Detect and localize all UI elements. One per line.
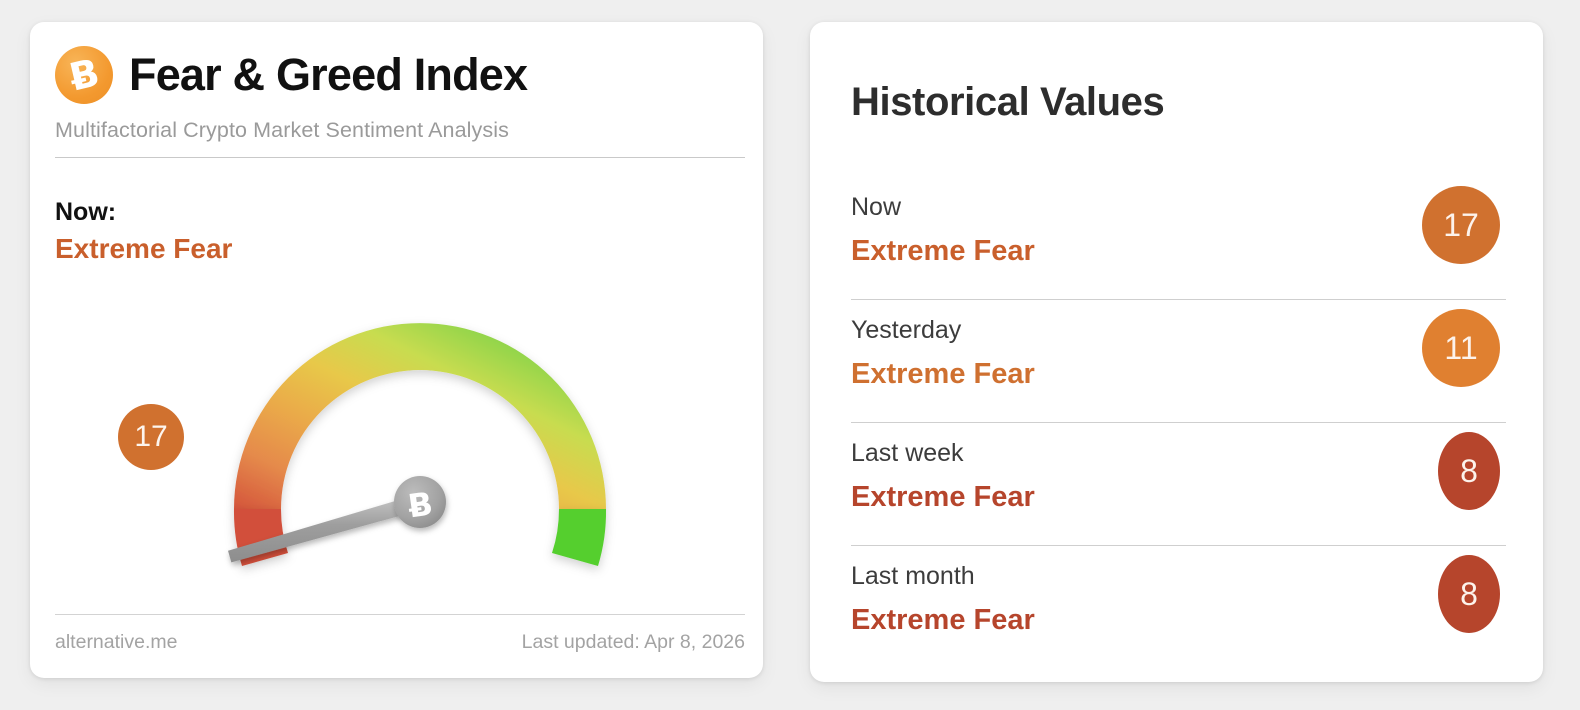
now-label: Now:	[55, 198, 232, 227]
history-period-label: Last week	[851, 439, 964, 468]
history-score-badge: 11	[1422, 309, 1500, 387]
header-divider	[55, 157, 745, 158]
history-row: Last monthExtreme Fear8	[851, 546, 1506, 669]
page-subtitle: Multifactorial Crypto Market Sentiment A…	[55, 118, 745, 143]
page-root: Ƀ Fear & Greed Index Multifactorial Cryp…	[0, 0, 1580, 710]
history-score-badge: 17	[1422, 186, 1500, 264]
gauge-card-header: Ƀ Fear & Greed Index Multifactorial Cryp…	[55, 44, 745, 158]
history-classification: Extreme Fear	[851, 235, 1035, 268]
gauge-arc	[230, 323, 606, 597]
footer-divider	[55, 614, 745, 615]
history-score-badge: 8	[1438, 432, 1500, 510]
history-classification: Extreme Fear	[851, 481, 1035, 514]
bitcoin-hub-icon: Ƀ	[406, 484, 435, 525]
source-link[interactable]: alternative.me	[55, 631, 177, 654]
bitcoin-icon: Ƀ	[55, 46, 113, 104]
last-updated-text: Last updated: Apr 8, 2026	[522, 631, 745, 654]
history-period-label: Last month	[851, 562, 975, 591]
historical-values-card: Historical Values NowExtreme Fear17Yeste…	[810, 22, 1543, 682]
historical-values-list: NowExtreme Fear17YesterdayExtreme Fear11…	[851, 177, 1506, 669]
history-period-label: Yesterday	[851, 316, 961, 345]
bitcoin-glyph: Ƀ	[66, 53, 103, 97]
now-block: Now: Extreme Fear	[55, 198, 232, 265]
history-classification: Extreme Fear	[851, 604, 1035, 637]
fear-greed-gauge-card: Ƀ Fear & Greed Index Multifactorial Cryp…	[30, 22, 763, 678]
history-period-label: Now	[851, 193, 901, 222]
now-classification: Extreme Fear	[55, 233, 232, 265]
history-row: YesterdayExtreme Fear11	[851, 300, 1506, 423]
history-row: NowExtreme Fear17	[851, 177, 1506, 300]
gauge-card-footer: alternative.me Last updated: Apr 8, 2026	[55, 614, 745, 654]
gauge-hub: Ƀ	[394, 476, 446, 528]
gauge-score-badge: 17	[118, 404, 184, 470]
historical-values-title: Historical Values	[851, 80, 1164, 125]
title-row: Ƀ Fear & Greed Index	[55, 44, 745, 106]
page-title: Fear & Greed Index	[129, 49, 527, 101]
history-row: Last weekExtreme Fear8	[851, 423, 1506, 546]
history-score-badge: 8	[1438, 555, 1500, 633]
history-classification: Extreme Fear	[851, 358, 1035, 391]
